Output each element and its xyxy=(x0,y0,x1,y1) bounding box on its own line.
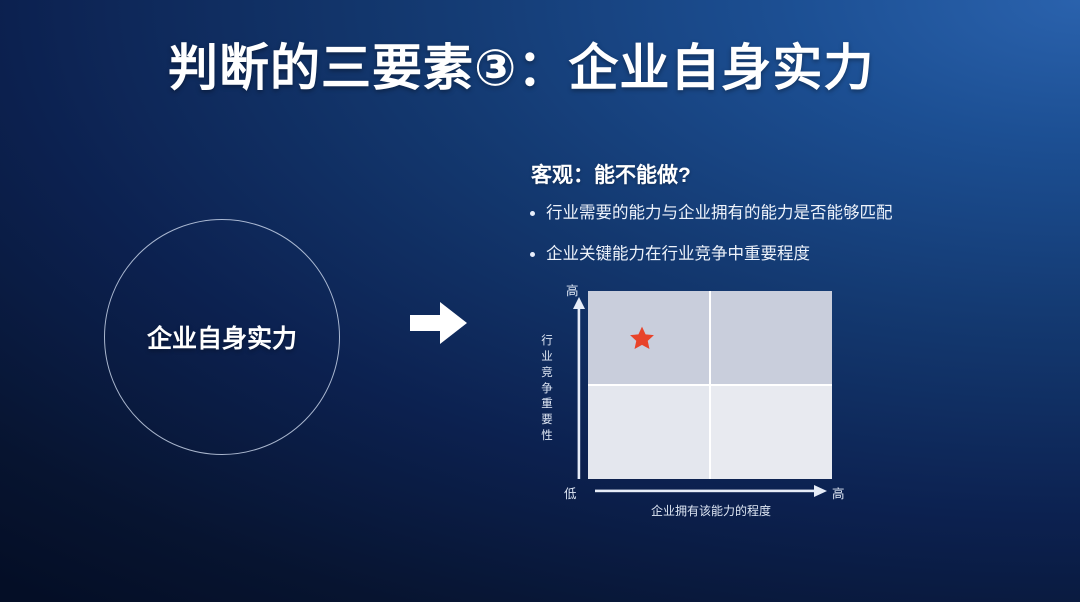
y-axis-title: 行业竞争重要性 xyxy=(539,334,555,445)
list-item: 企业关键能力在行业竞争中重要程度 xyxy=(529,244,959,265)
y-axis-low-label: 低 xyxy=(564,483,577,502)
slide-canvas: 判断的三要素③：企业自身实力 企业自身实力 客观：能不能做? 行业需要的能力与企… xyxy=(0,0,1080,602)
objective-heading: 客观：能不能做? xyxy=(531,159,691,189)
list-item: 行业需要的能力与企业拥有的能力是否能够匹配 xyxy=(529,203,959,224)
y-axis-arrow-icon xyxy=(572,297,586,479)
list-item-label: 行业需要的能力与企业拥有的能力是否能够匹配 xyxy=(546,204,893,222)
bullet-dot-icon xyxy=(530,252,535,257)
quadrant-bottom-left xyxy=(588,385,710,479)
quadrant-top-right xyxy=(710,291,832,385)
page-title: 判断的三要素③：企业自身实力 xyxy=(168,28,874,100)
quadrant-bottom-right xyxy=(710,385,832,479)
y-axis-high-label: 高 xyxy=(566,280,579,299)
concept-circle-label: 企业自身实力 xyxy=(147,319,297,355)
star-marker-icon xyxy=(629,325,655,351)
concept-circle: 企业自身实力 xyxy=(104,219,340,455)
x-axis-high-label: 高 xyxy=(832,483,845,502)
bullet-dot-icon xyxy=(530,211,535,216)
capability-matrix-chart: 高 低 行业竞争重要性 高 企业拥有该能力的程度 xyxy=(531,286,861,521)
matrix-plot-area xyxy=(588,291,832,479)
list-item-label: 企业关键能力在行业竞争中重要程度 xyxy=(546,245,810,263)
matrix-horizontal-divider xyxy=(588,384,832,387)
x-axis-title: 企业拥有该能力的程度 xyxy=(595,502,827,519)
bullet-list: 行业需要的能力与企业拥有的能力是否能够匹配 企业关键能力在行业竞争中重要程度 xyxy=(529,203,959,286)
x-axis-arrow-icon xyxy=(595,484,827,498)
right-block-arrow-icon xyxy=(410,300,468,346)
